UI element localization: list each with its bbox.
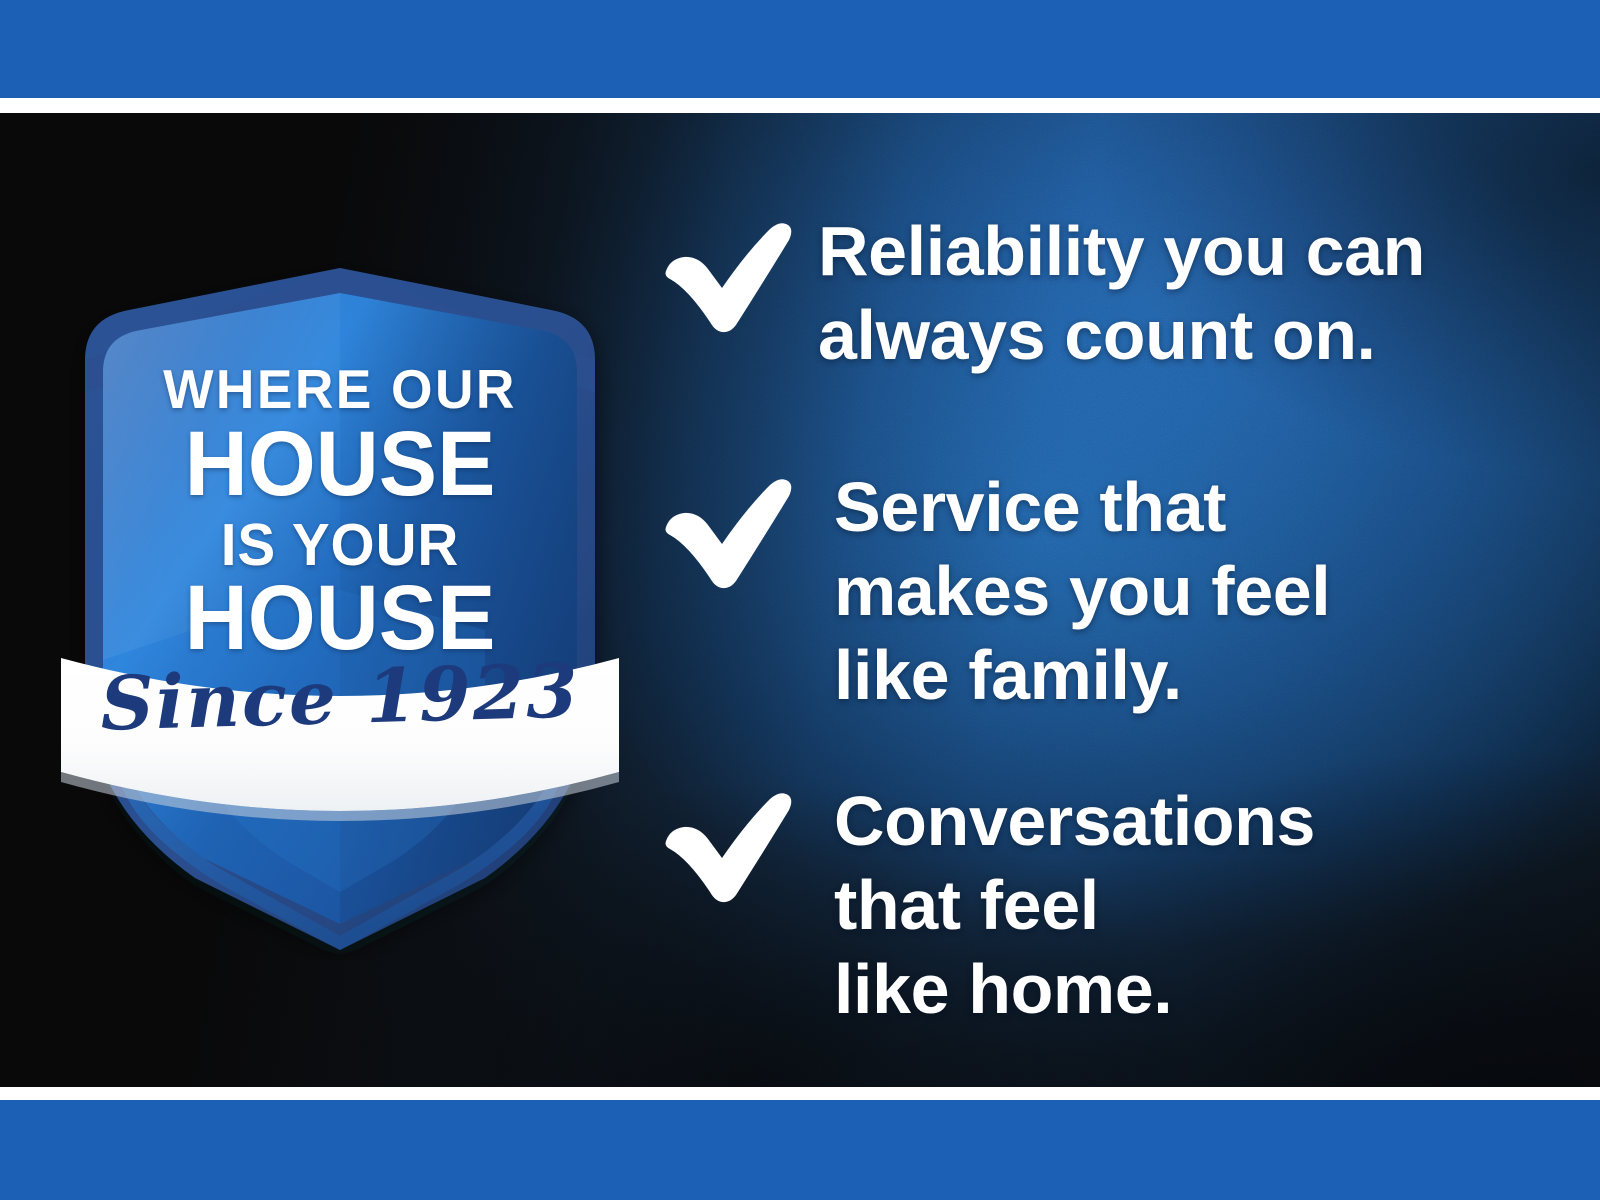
top-white-rule: [0, 98, 1600, 113]
benefit-item: Reliability you can always count on.: [660, 209, 1425, 377]
benefit-text: Conversations that feel like home.: [834, 779, 1315, 1031]
emblem-line-house-1: HOUSE: [69, 418, 611, 510]
checkmark-icon: [660, 215, 796, 333]
bottom-brand-bar: [0, 1100, 1600, 1200]
benefit-item: Conversations that feel like home.: [660, 779, 1315, 1031]
benefit-text: Reliability you can always count on.: [818, 209, 1425, 377]
emblem-line-where: WHERE OUR: [64, 362, 617, 417]
benefit-item: Service that makes you feel like family.: [660, 465, 1330, 717]
checkmark-icon: [660, 785, 796, 903]
checkmark-icon: [660, 471, 796, 589]
bottom-white-rule: [0, 1087, 1600, 1100]
ribbon-since-text: Since 1923: [54, 647, 626, 749]
top-brand-bar: [0, 0, 1600, 98]
shield-emblem: WHERE OUR HOUSE IS YOUR HOUSE Since 1923: [55, 160, 625, 960]
promo-graphic: WHERE OUR HOUSE IS YOUR HOUSE Since 1923…: [0, 0, 1600, 1200]
benefits-list: Reliability you can always count on. Ser…: [660, 113, 1560, 1087]
benefit-text: Service that makes you feel like family.: [834, 465, 1330, 717]
